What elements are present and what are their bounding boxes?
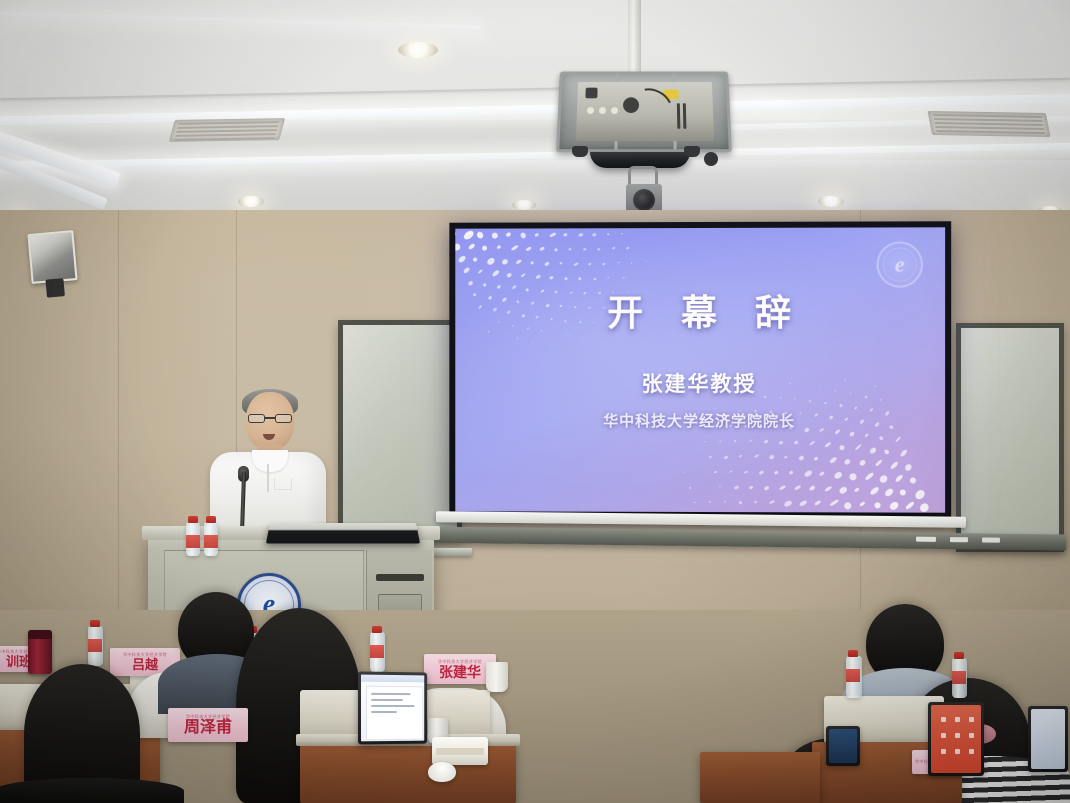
red-thermos [28,630,52,674]
marker [982,537,1000,542]
bottle-cap [188,516,198,523]
projector-vent-slot [683,103,687,129]
university-logo-watermark: e [877,241,923,287]
bottle-cap [954,652,964,659]
marker [916,537,936,542]
bottle-label [846,669,860,682]
downlight-icon [238,196,264,207]
downlight-icon [818,196,844,207]
water-bottle [952,658,967,698]
nameplate-name: 吕越 [132,658,158,671]
laptop-screen[interactable] [361,675,424,742]
projector-indicator [599,107,606,114]
tissue-box [432,737,488,765]
tablet-device[interactable] [826,726,860,766]
projector-foot [572,146,588,157]
nameplate: 华中科技大学经济学院 周泽甫 [168,708,248,742]
glasses-lens [248,414,265,423]
bottle-cap [90,620,100,627]
bottle-label [186,535,200,548]
lecture-hall-photo: e 开 幕 辞 张建华教授 华中科技大学经济学院院长 [0,0,1070,803]
ceiling-lower-step [0,160,1070,216]
bottle-cap [372,626,382,633]
projector-indicator [611,107,618,114]
slide-speaker-affiliation: 华中科技大学经济学院院长 [455,410,945,431]
podium-monitor [266,523,420,544]
nameplate-name: 周泽甫 [184,720,232,736]
slide-speaker-name: 张建华教授 [455,368,945,398]
water-bottle [846,656,862,698]
logo-ring [883,247,917,281]
text-line [371,705,414,707]
downlight-icon [512,200,536,210]
desk [700,752,820,803]
slide-title: 开 幕 辞 [469,284,945,337]
glasses-icon [248,414,292,423]
tissue-box-band [436,748,484,755]
glasses-bridge [265,417,275,419]
app-toolbar [361,675,424,683]
audience-shoulders [0,778,184,803]
laptop-lid [358,671,427,744]
speaker-mount [45,278,65,298]
projector-indicator [587,107,594,114]
nameplate-logo: 华中科技大学经济学院 [438,660,482,664]
projector-security-cage [556,72,732,153]
slide-text-block: 开 幕 辞 张建华教授 华中科技大学经济学院院长 [455,284,945,432]
thermos-lid [28,630,52,639]
text-line [371,711,397,713]
glasses-lens [275,414,292,423]
nameplate-logo: 华中科技大学经济学院 [123,653,167,657]
nameplate-name: 张建华 [439,665,481,679]
hvac-vent-icon [927,111,1050,137]
text-line [371,699,403,701]
document-page [367,687,422,740]
whiteboard-left [338,320,462,542]
paper-cup [486,662,508,692]
nameplate-logo: 华中科技大学经济学院 [186,715,230,719]
marker [950,537,968,542]
bottle-label [88,639,102,652]
water-bottle [204,522,218,556]
projector-vent-slot [677,103,680,129]
computer-mouse[interactable] [428,762,456,782]
water-bottle [186,522,200,556]
shirt-pocket [274,478,292,490]
camera-lens-icon [633,189,655,211]
tablet-device[interactable] [1028,706,1068,772]
projection-screen: e 开 幕 辞 张建华教授 华中科技大学经济学院院长 [449,221,951,518]
speaker-grill-icon [27,230,77,284]
projector-port [585,88,597,99]
bottle-cap [206,516,216,523]
water-bottle [370,632,385,672]
wall-speaker [27,230,78,296]
text-line [371,693,411,695]
board-glare [343,325,457,537]
hvac-vent-icon [169,118,285,142]
slide-surface: e 开 幕 辞 张建华教授 华中科技大学经济学院院长 [455,227,945,512]
bottle-label [370,645,384,658]
ceiling-projector-rig [556,60,736,230]
audience-laptop[interactable] [358,671,427,752]
tablet-screen[interactable] [931,705,981,773]
bottle-label [952,671,966,684]
tablet-screen[interactable] [829,729,857,763]
projector-foot [684,146,700,157]
tablet-device[interactable] [928,702,984,776]
tablet-screen[interactable] [1031,709,1065,769]
bottle-cap [848,650,858,657]
presenter [208,392,326,542]
projector-knob [704,152,718,166]
board-glare [961,328,1059,547]
water-bottle [88,626,103,666]
shirt-placket [267,464,269,492]
ceiling [0,0,1070,232]
whiteboard-right [956,323,1064,552]
downlight-icon [398,42,438,58]
bottle-label [204,535,218,548]
podium-cable-slot [376,574,424,581]
